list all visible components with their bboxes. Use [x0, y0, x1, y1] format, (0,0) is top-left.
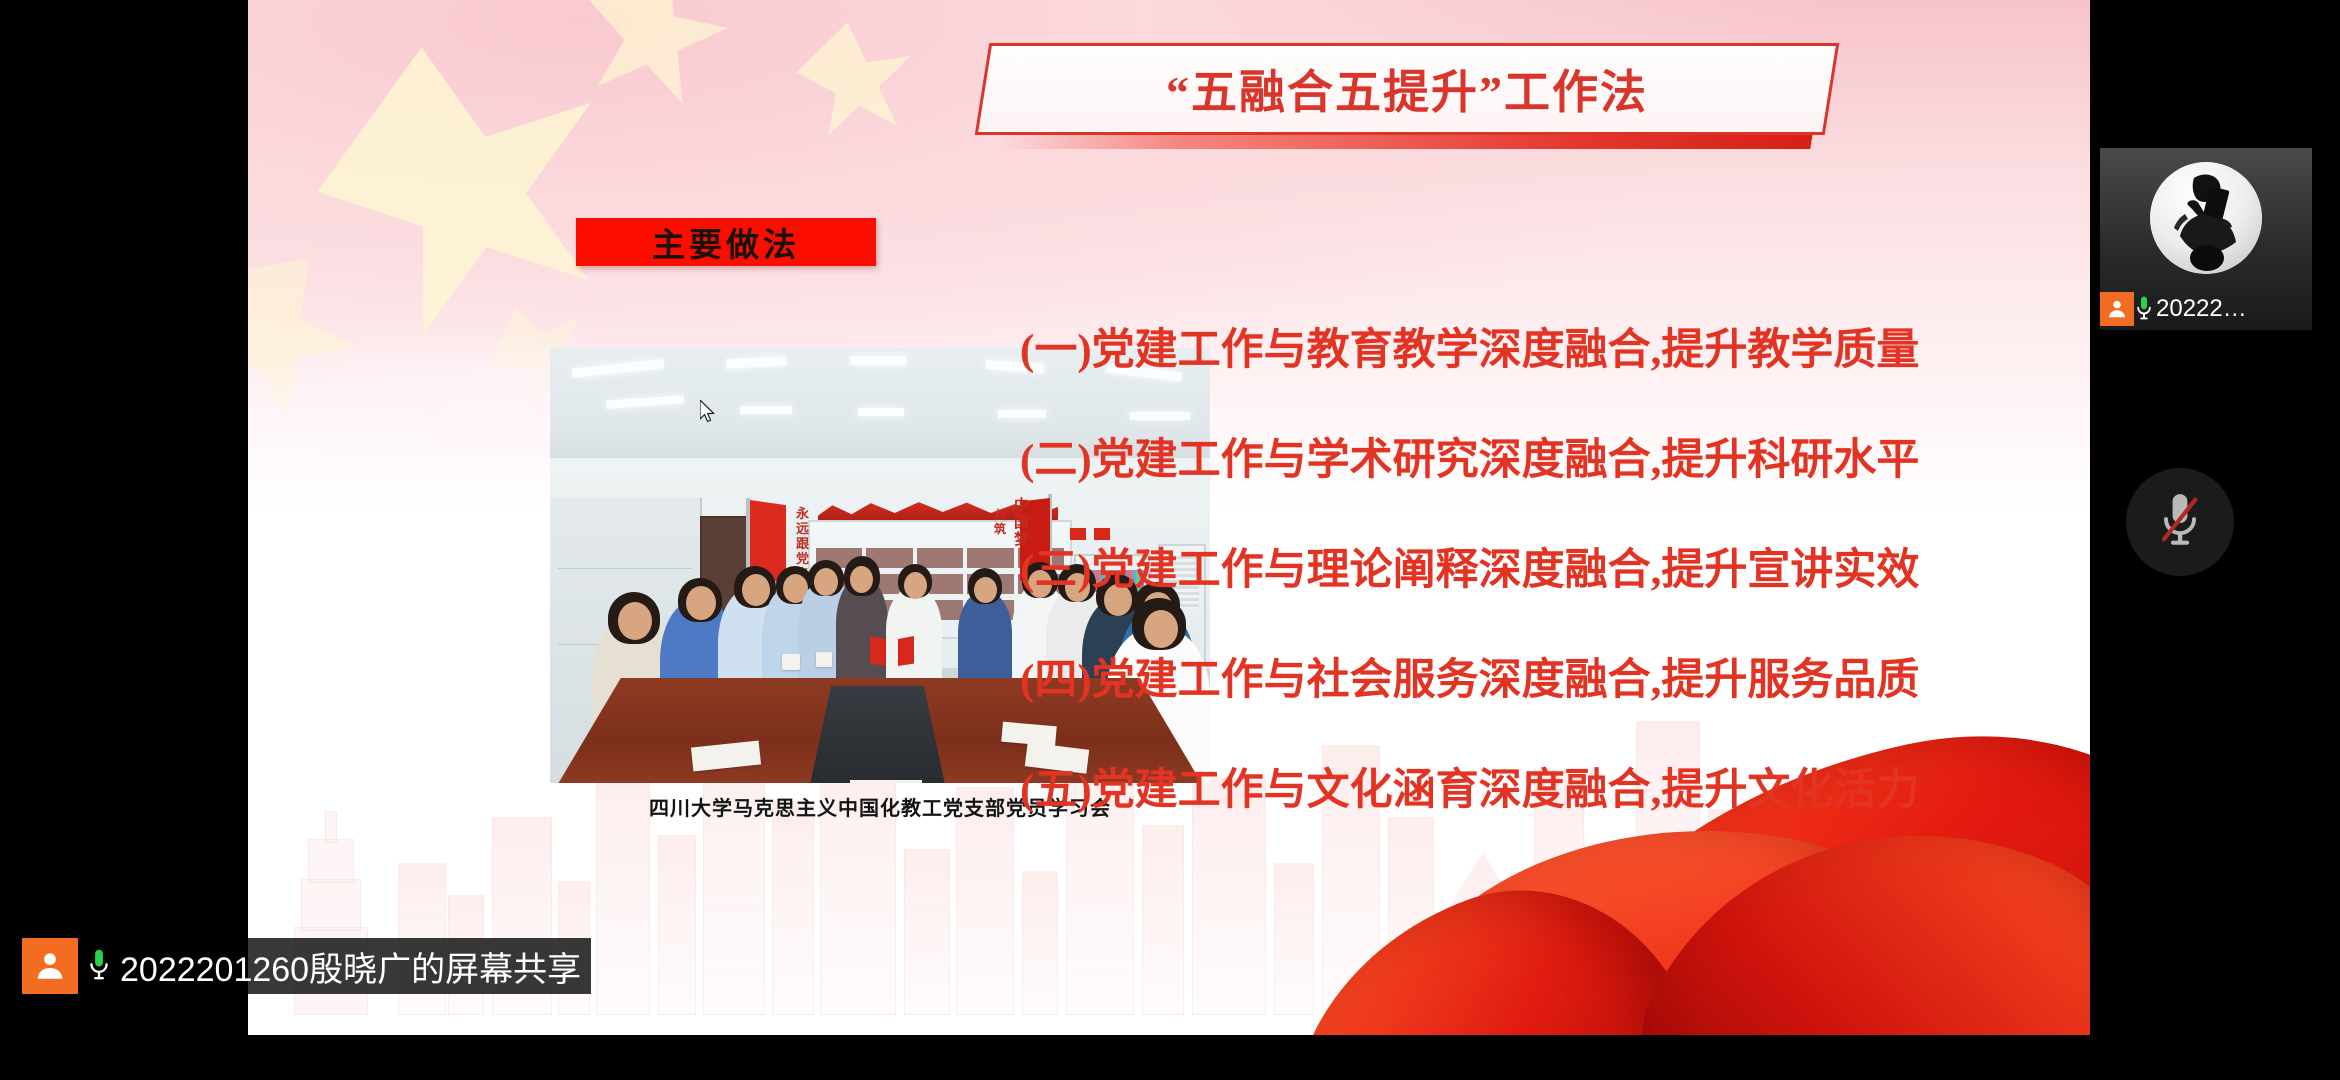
page-title: “五融合五提升”工作法 — [982, 43, 1832, 135]
person-icon — [22, 938, 78, 994]
wall-calligraphy-mid: 共筑 — [994, 508, 1009, 536]
person — [958, 592, 1012, 686]
list-item: (五)党建工作与文化涵育深度融合,提升文化活力 — [1020, 736, 2030, 846]
section-tag-label: 主要做法 — [652, 218, 800, 266]
person — [886, 588, 942, 684]
tile-footer: 20222… — [2100, 292, 2247, 326]
share-name-label: 2022201260殷晓广的屏幕共享 — [120, 942, 581, 991]
slide-title-banner: “五融合五提升”工作法 — [982, 43, 1832, 135]
person-glyph — [33, 949, 67, 983]
list-item: (一)党建工作与教育教学深度融合,提升教学质量 — [1020, 296, 2030, 406]
desk-flag — [898, 636, 914, 666]
meeting-screen-share-window: “五融合五提升”工作法 主要做法 — [0, 0, 2340, 1080]
desk-flag — [870, 636, 886, 666]
participant-name-label: 20222… — [2156, 295, 2247, 323]
microphone-on-icon — [86, 947, 112, 985]
list-item: (二)党建工作与学术研究深度融合,提升科研水平 — [1020, 406, 2030, 516]
list-item: (三)党建工作与理论阐释深度融合,提升宣讲实效 — [1020, 516, 2030, 626]
avatar — [2150, 162, 2262, 274]
microphone-muted-icon — [2153, 491, 2207, 553]
list-item: (四)党建工作与社会服务深度融合,提升服务品质 — [1020, 626, 2030, 736]
person-icon — [2100, 292, 2134, 326]
participant-panel: 20222… — [2090, 0, 2340, 1080]
participant-tile[interactable]: 20222… — [2100, 148, 2312, 330]
mute-toggle-button[interactable] — [2126, 468, 2234, 576]
screen-share-status-bar: 2022201260殷晓广的屏幕共享 — [22, 938, 591, 994]
shared-slide[interactable]: “五融合五提升”工作法 主要做法 — [248, 0, 2090, 1035]
microphone-on-icon — [2134, 294, 2154, 324]
person-glyph — [2106, 298, 2128, 320]
practices-list: (一)党建工作与教育教学深度融合,提升教学质量 (二)党建工作与学术研究深度融合… — [1020, 296, 2030, 846]
avatar-photo — [2150, 162, 2262, 274]
share-name-pill: 2022201260殷晓广的屏幕共享 — [78, 938, 591, 994]
section-tag-main-practices: 主要做法 — [576, 218, 876, 266]
